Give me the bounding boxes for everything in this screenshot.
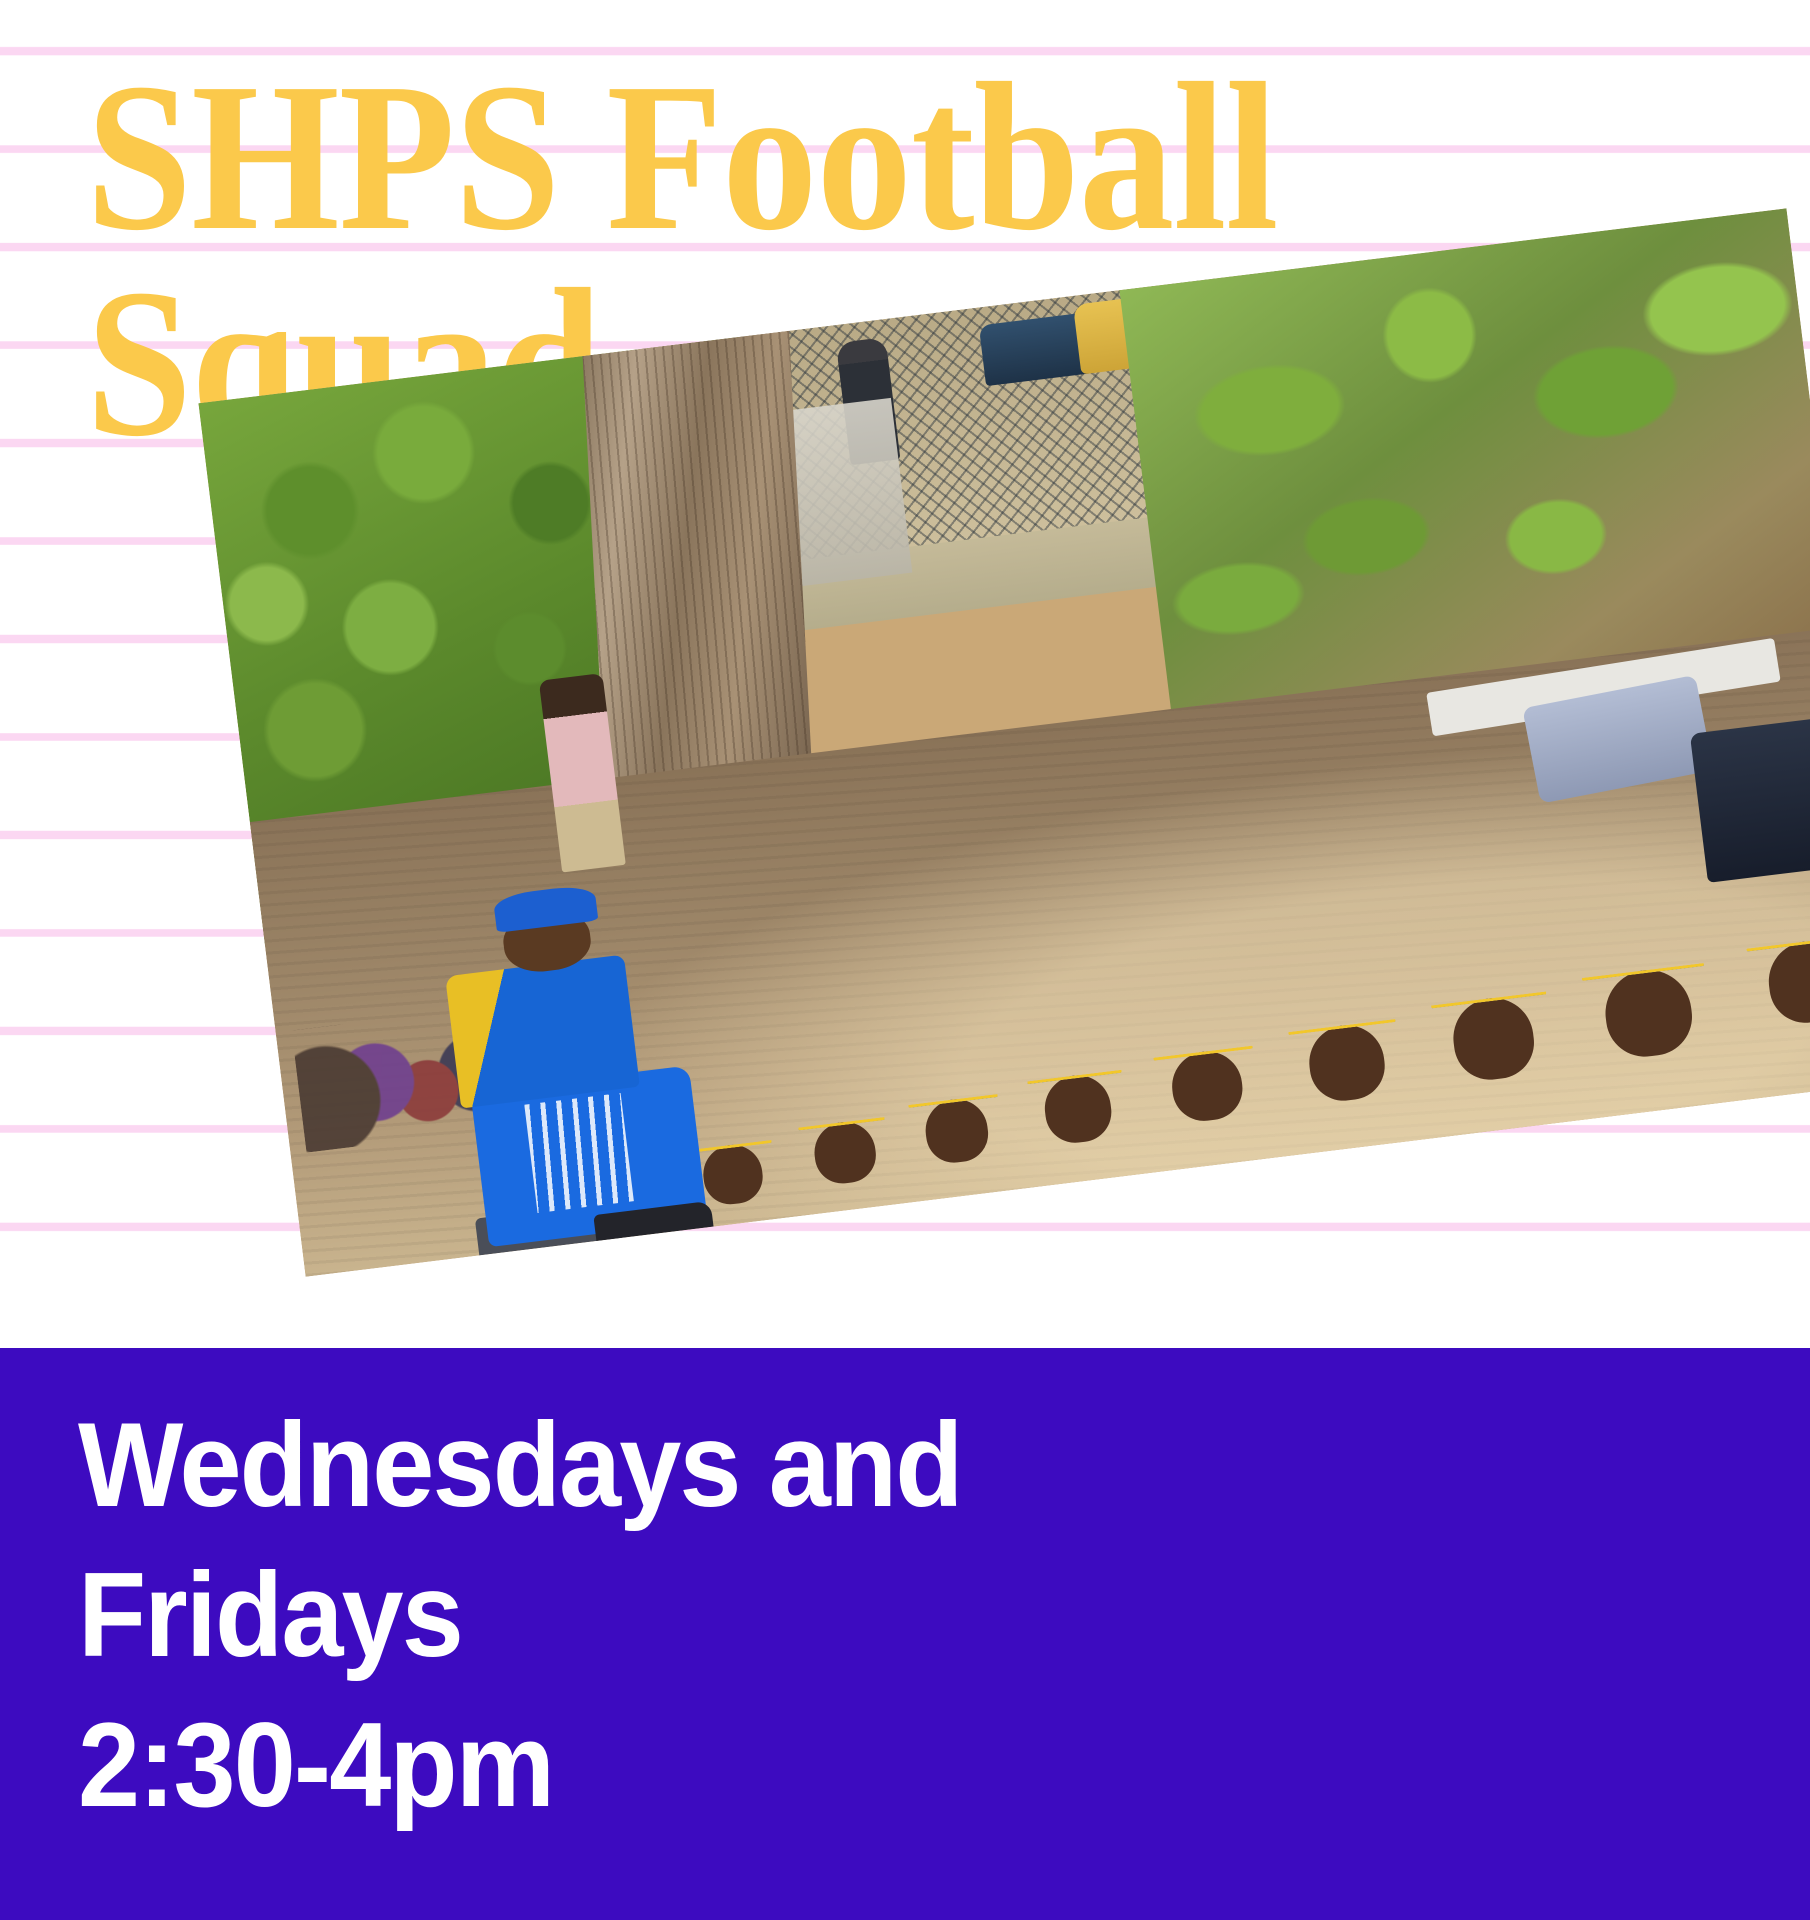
schedule-banner: Wednesdays and Fridays 2:30-4pm bbox=[0, 1348, 1810, 1920]
coach bbox=[419, 859, 718, 1257]
water-cooler bbox=[1690, 717, 1810, 883]
poster-canvas: SHPS Football Squad bbox=[0, 0, 1810, 1920]
schedule-text: Wednesdays and Fridays 2:30-4pm bbox=[78, 1390, 1315, 1840]
coach-jersey bbox=[445, 955, 639, 1109]
